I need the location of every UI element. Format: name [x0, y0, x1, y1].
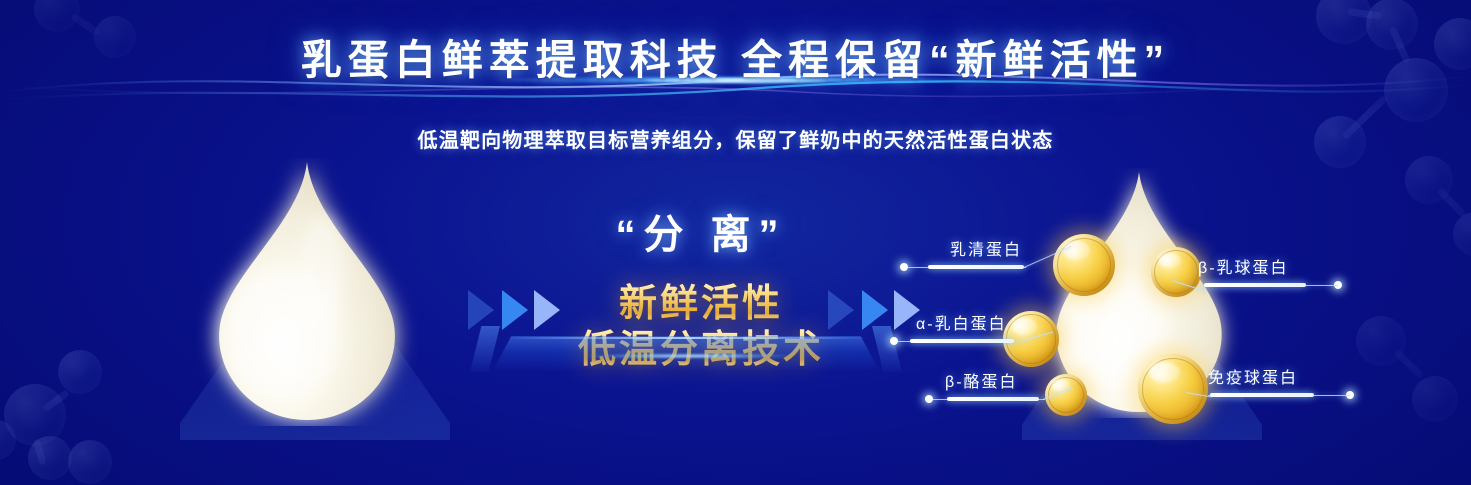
callout-bar-immunoglobulin [1210, 393, 1314, 397]
callout-alpha-lactalbumin: α-乳白蛋白 [890, 310, 1080, 362]
callout-dot-whey-protein [900, 263, 908, 271]
callout-dot-alpha-lactalbumin [890, 337, 898, 345]
page-title: 乳蛋白鲜萃提取科技 全程保留“新鲜活性” [0, 26, 1471, 86]
milk-drop-icon-left [196, 158, 418, 426]
molecule-icon-bottom-left [0, 336, 176, 485]
callout-label-alpha-lactalbumin: α-乳白蛋白 [916, 310, 1007, 334]
callout-beta-lactoglobulin: β-乳球蛋白 [1190, 254, 1390, 306]
callout-immunoglobulin: 免疫球蛋白 [1200, 364, 1400, 416]
callout-whey-protein: 乳清蛋白 [900, 236, 1080, 288]
page-subtitle: 低温靶向物理萃取目标营养组分，保留了鲜奶中的天然活性蛋白状态 [0, 124, 1471, 153]
callout-bar-alpha-lactalbumin [910, 339, 1014, 343]
gold-capsule-icon-immunoglobulin [1138, 354, 1208, 424]
callout-bar-beta-lactoglobulin [1204, 283, 1306, 287]
callout-dot-beta-casein [925, 395, 933, 403]
banner-root: 乳蛋白鲜萃提取科技 全程保留“新鲜活性” 低温靶向物理萃取目标营养组分，保留了鲜… [0, 0, 1471, 485]
callout-leader-beta-casein [1043, 387, 1073, 400]
callout-leader-whey-protein [1024, 246, 1072, 268]
callout-label-whey-protein: 乳清蛋白 [950, 236, 1022, 260]
center-podium-edge [506, 337, 868, 339]
center-podium-glow [586, 354, 794, 358]
center-quoted-word: “分 离” [536, 202, 866, 260]
callout-label-immunoglobulin: 免疫球蛋白 [1208, 364, 1298, 388]
callout-bar-beta-casein [947, 397, 1039, 401]
molecule-icon-top-far-right [1395, 150, 1471, 280]
callout-beta-casein: β-酪蛋白 [925, 368, 1105, 420]
callout-leader-alpha-lactalbumin [1020, 332, 1053, 343]
callout-bar-whey-protein [928, 265, 1024, 269]
callout-label-beta-casein: β-酪蛋白 [945, 368, 1018, 392]
milk-drop-left-svg [196, 158, 418, 426]
callout-label-beta-lactoglobulin: β-乳球蛋白 [1198, 254, 1289, 278]
